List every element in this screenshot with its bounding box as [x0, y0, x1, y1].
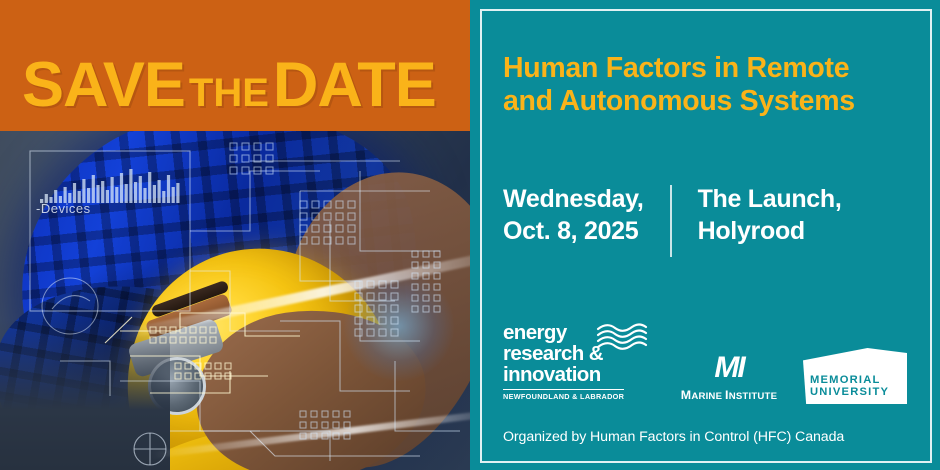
eri-subtitle: NEWFOUNDLAND & LABRADOR — [503, 389, 624, 402]
event-venue: The Launch, Holyrood — [672, 183, 842, 247]
save-the-date-banner: SAVETHEDATE — [0, 0, 470, 131]
event-title: Human Factors in Remote and Autonomous S… — [503, 52, 903, 119]
event-title-line-2: and Autonomous Systems — [503, 85, 903, 118]
event-date: Wednesday, Oct. 8, 2025 — [503, 183, 670, 247]
save-the-date-text: SAVETHEDATE — [22, 54, 436, 117]
mun-line-2: UNIVERSITY — [810, 386, 889, 399]
memorial-university-logo: MEMORIAL UNIVERSITY — [803, 348, 907, 404]
mi-name-rest-1: ARINE — [691, 391, 725, 402]
the-word: THE — [185, 71, 273, 115]
event-photo: -Devices — [0, 131, 470, 470]
info-panel: Human Factors in Remote and Autonomous S… — [470, 0, 940, 470]
marine-institute-logo: MI MARINE INSTITUTE — [671, 353, 787, 404]
energy-research-innovation-logo: energy research & innovation NEWFOUNDLAN… — [503, 322, 655, 404]
event-date-line-1: Wednesday, — [503, 183, 644, 215]
organizer-credit: Organized by Human Factors in Control (H… — [503, 429, 844, 445]
date-word: DATE — [273, 50, 436, 120]
event-venue-line-2: Holyrood — [698, 215, 842, 247]
event-title-line-1: Human Factors in Remote — [503, 52, 903, 85]
mun-wordmark: MEMORIAL UNIVERSITY — [810, 374, 889, 399]
save-the-date-poster: -Devices SAVETHEDATE Human Factors in Re… — [0, 0, 940, 470]
event-venue-line-1: The Launch, — [698, 183, 842, 215]
hud-devices-label: -Devices — [36, 201, 91, 216]
mi-wordmark: MARINE INSTITUTE — [671, 388, 787, 402]
event-date-line-2: Oct. 8, 2025 — [503, 215, 644, 247]
sponsor-logos: energy research & innovation NEWFOUNDLAN… — [503, 312, 907, 404]
photo-panel: -Devices SAVETHEDATE — [0, 0, 470, 470]
save-word: SAVE — [22, 50, 185, 120]
eri-line-3: innovation — [503, 364, 655, 385]
digital-circuit-overlay — [0, 131, 470, 470]
mi-name-rest-2: NSTITUTE — [729, 391, 778, 402]
date-and-venue: Wednesday, Oct. 8, 2025 The Launch, Holy… — [503, 183, 842, 257]
mi-monogram: MI — [671, 353, 787, 383]
wave-mark-icon — [595, 320, 649, 352]
mun-line-1: MEMORIAL — [810, 374, 889, 387]
mi-name-cap-1: M — [681, 388, 692, 402]
